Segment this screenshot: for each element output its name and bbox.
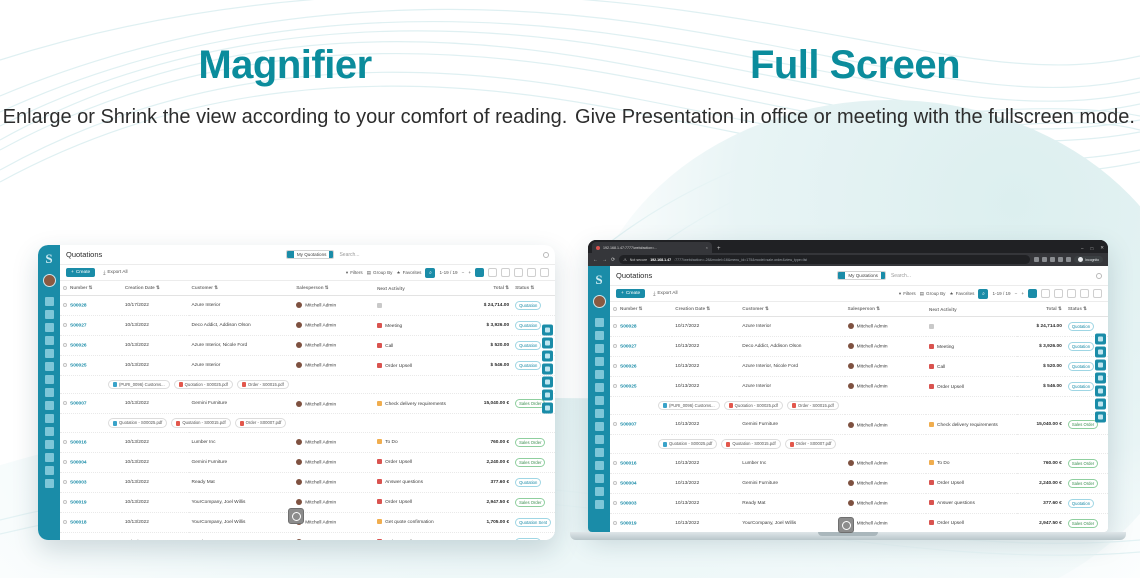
cell-customer: Azure Interior, Nicole Ford	[189, 336, 294, 356]
search-facet-laptop[interactable]: My Quotations	[837, 271, 886, 280]
cell-salesperson: Mitchell Admin	[293, 316, 374, 336]
kanban-view-button-laptop[interactable]	[1041, 289, 1050, 298]
filters-button-laptop[interactable]: ▾Filters	[899, 291, 916, 297]
table-row[interactable]: S0002710/13/2022Deco Addict, Addison Ols…	[610, 337, 1108, 357]
pivot-view-button-laptop[interactable]	[1067, 289, 1076, 298]
plus-icon: +	[71, 270, 74, 275]
group-by-button[interactable]: ▤Group By	[367, 270, 393, 276]
cell-customer: YourCompany, Joel Willis	[189, 512, 294, 532]
export-icon-laptop[interactable]	[1095, 398, 1106, 409]
sidebar-item-mail-laptop[interactable]	[595, 357, 604, 366]
select-all-checkbox[interactable]	[63, 286, 67, 290]
cell-next-activity	[926, 317, 1017, 337]
sidebar-item-home[interactable]	[45, 297, 54, 306]
search-icon[interactable]	[542, 337, 553, 348]
row-checkbox[interactable]	[63, 343, 67, 347]
sidebar-item-eye-laptop[interactable]	[595, 370, 604, 379]
cell-salesperson: Mitchell Admin	[845, 453, 926, 473]
incognito-badge[interactable]: Incognito	[1074, 256, 1103, 263]
graph-view-button[interactable]	[527, 268, 536, 277]
brand-logo-icon-laptop: S	[591, 272, 607, 288]
avatar	[848, 323, 854, 329]
note-icon	[377, 519, 382, 524]
cell-total: 377.60 €	[465, 472, 513, 492]
row-checkbox[interactable]	[613, 521, 617, 525]
attachment-chip[interactable]: Quotation - S00025.pdf	[658, 439, 717, 448]
graph-view-button-laptop[interactable]	[1080, 289, 1089, 298]
cell-salesperson: Mitchell Admin	[845, 513, 926, 532]
cell-salesperson: Mitchell Admin	[293, 512, 374, 532]
sidebar-item-people-laptop[interactable]	[595, 474, 604, 483]
col-number-laptop[interactable]: Number ⇅	[610, 302, 672, 317]
col-creation-date-laptop[interactable]: Creation Date ⇅	[672, 302, 739, 317]
row-checkbox[interactable]	[63, 460, 67, 464]
cell-next-activity: Order Upsell	[374, 452, 464, 472]
sidebar-item-people[interactable]	[45, 453, 54, 462]
cell-next-activity: Order Upsell	[926, 473, 1017, 493]
cell-number[interactable]: S00007	[60, 394, 122, 414]
cell-creation-date: 10/13/2022	[122, 394, 189, 414]
attachment-row: Quotation - S00025.pdfQuotation - S00015…	[610, 435, 1108, 453]
sidebar-item-settings-laptop[interactable]	[595, 500, 604, 509]
attachment-chip[interactable]: Quotation - S00015.pdf	[721, 439, 780, 448]
row-checkbox[interactable]	[613, 461, 617, 465]
quotations-table-wrapper-laptop[interactable]: Number ⇅ Creation Date ⇅ Customer ⇅ Sale…	[610, 302, 1108, 532]
zoom-in-button[interactable]: +	[468, 270, 471, 275]
cell-number[interactable]: S00025	[60, 356, 122, 376]
address-bar[interactable]: ⚠ Not secure 192.168.1.47 :7777/web#acti…	[619, 255, 1030, 264]
settings-icon-laptop[interactable]	[1095, 333, 1106, 344]
cell-creation-date: 10/13/2022	[672, 337, 739, 357]
avatar	[848, 500, 854, 506]
avatar	[848, 343, 854, 349]
col-customer-laptop[interactable]: Customer ⇅	[739, 302, 844, 317]
table-head: Number ⇅ Creation Date ⇅ Customer ⇅ Sale…	[60, 281, 555, 296]
sidebar-item-camera-laptop[interactable]	[595, 448, 604, 457]
row-checkbox[interactable]	[63, 480, 67, 484]
table-row[interactable]: S0001810/13/2022YourCompany, Joel Willis…	[60, 512, 555, 532]
question-icon	[929, 500, 934, 505]
export-all-button[interactable]: ⤓ Export All	[99, 268, 131, 278]
cell-number[interactable]: S00016	[610, 453, 672, 473]
sidebar-item-note[interactable]	[45, 375, 54, 384]
cell-customer: Gemini Furniture	[189, 394, 294, 414]
sidebar-item-filter-laptop[interactable]	[595, 331, 604, 340]
save-icon-laptop[interactable]	[1095, 385, 1106, 396]
attachment-chip[interactable]: Quotation - S00025.pdf	[724, 401, 783, 410]
table-row[interactable]: S0000410/13/2022Gemini FurnitureMitchell…	[60, 452, 555, 472]
table-row[interactable]: S0002510/13/2022Azure InteriorMitchell A…	[60, 356, 555, 376]
export-icon-laptop: ⤓	[653, 291, 655, 297]
avatar	[848, 422, 854, 428]
cell-total: 2,240.00 €	[1017, 473, 1065, 493]
status-badge: Quotation	[1068, 499, 1094, 508]
avatar	[848, 460, 854, 466]
cell-total: 377.60 €	[1017, 493, 1065, 513]
table-row[interactable]: S0000310/13/2022Ready MatMitchell AdminA…	[610, 493, 1108, 513]
list-view-button[interactable]	[475, 268, 484, 277]
create-button-laptop[interactable]: + Create	[616, 289, 645, 298]
export-all-button-laptop[interactable]: ⤓ Export All	[649, 289, 681, 299]
star-icon: ★	[396, 270, 400, 276]
status-badge: Sales Order	[515, 399, 545, 408]
search-input[interactable]: Search...	[339, 252, 359, 258]
table-row[interactable]: S0002510/13/2022Azure InteriorMitchell A…	[610, 377, 1108, 397]
attachment-chip[interactable]: Quotation - S00025.pdf	[108, 418, 167, 427]
incognito-label: Incognito	[1085, 258, 1099, 262]
table-row[interactable]: S0002710/13/2022Deco Addict, Addison Ols…	[60, 316, 555, 336]
table-row[interactable]: S0000210/13/2022Ready MatMitchell AdminO…	[60, 532, 555, 540]
cell-number[interactable]: S00025	[610, 377, 672, 397]
favorites-button-laptop[interactable]: ★Favorites	[949, 291, 974, 297]
cell-customer: Gemini Furniture	[739, 415, 844, 435]
browser-tabstrip: 192.168.1.47:7777/web#action=... × + – □…	[588, 240, 1108, 253]
cell-number[interactable]: S00019	[60, 492, 122, 512]
avatar[interactable]	[43, 274, 56, 287]
file-icon	[113, 382, 117, 387]
attachment-chip[interactable]: Order - S00015.pdf	[787, 401, 839, 410]
sidebar-item-camera[interactable]	[45, 427, 54, 436]
create-button[interactable]: + Create	[66, 268, 95, 277]
avatar	[296, 401, 302, 407]
quotations-table: Number ⇅ Creation Date ⇅ Customer ⇅ Sale…	[60, 281, 555, 540]
attachment-row: (PURI_0096) Customs...Quotation - S00025…	[60, 376, 555, 394]
cell-number[interactable]: S00004	[610, 473, 672, 493]
avatar	[296, 302, 302, 308]
row-checkbox[interactable]	[613, 324, 617, 328]
calendar-view-button[interactable]	[501, 268, 510, 277]
table-row[interactable]: S0001610/13/2022Lumber IncMitchell Admin…	[60, 432, 555, 452]
upsell-icon	[377, 363, 382, 368]
cell-customer: Gemini Furniture	[189, 452, 294, 472]
status-badge: Quotation	[1068, 342, 1094, 351]
sidebar-item-box-laptop[interactable]	[595, 487, 604, 496]
col-customer[interactable]: Customer ⇅	[189, 281, 294, 296]
sidebar-item-user[interactable]	[45, 440, 54, 449]
export-icon[interactable]	[542, 389, 553, 400]
attachment-chip[interactable]: (PURI_0096) Customs...	[108, 380, 170, 389]
select-all-checkbox-laptop[interactable]	[613, 307, 617, 311]
col-salesperson-laptop[interactable]: Salesperson ⇅	[845, 302, 926, 317]
attachment-chip[interactable]: Quotation - S00025.pdf	[174, 380, 233, 389]
file-icon	[663, 442, 667, 447]
status-badge: Quotation	[515, 301, 541, 310]
page-title-fullscreen: Full Screen	[570, 44, 1140, 86]
magnifier-icon-laptop[interactable]: ⌕	[978, 289, 988, 299]
attachment-chip[interactable]: Order - S00007.pdf	[785, 439, 837, 448]
row-checkbox[interactable]	[63, 323, 67, 327]
col-number[interactable]: Number ⇅	[60, 281, 122, 296]
status-badge: Sales Order	[1068, 479, 1098, 488]
search-icon-laptop[interactable]	[1095, 346, 1106, 357]
list-view-button-laptop[interactable]	[1028, 289, 1037, 298]
cell-number[interactable]: S00026	[60, 336, 122, 356]
table-row[interactable]: S0002810/17/2022Azure InteriorMitchell A…	[60, 296, 555, 316]
facet-remove-icon[interactable]	[329, 251, 333, 258]
group-by-button-laptop[interactable]: ▤Group By	[920, 291, 946, 297]
upsell-icon	[377, 459, 382, 464]
cell-total: $ 3,926.00	[1017, 337, 1065, 357]
cell-number[interactable]: S00003	[610, 493, 672, 513]
attachment-chip[interactable]: Quotation - S00015.pdf	[171, 418, 230, 427]
todo-icon	[929, 460, 934, 465]
sidebar-item-grid-laptop[interactable]	[595, 409, 604, 418]
cell-salesperson: Mitchell Admin	[845, 377, 926, 397]
cell-creation-date: 10/13/2022	[122, 532, 189, 540]
bookmark-star-icon[interactable]	[1034, 257, 1039, 262]
minimize-button[interactable]: –	[1081, 246, 1084, 251]
upsell-icon	[377, 539, 382, 540]
upsell-icon	[929, 384, 934, 389]
cell-number[interactable]: S00007	[610, 415, 672, 435]
sidebar-item-inbox-laptop[interactable]	[595, 435, 604, 444]
cell-number[interactable]: S00003	[60, 472, 122, 492]
grid-icon-laptop[interactable]	[1095, 359, 1106, 370]
tablet-device-mockup: S Quotations My Quotati	[38, 245, 555, 540]
col-next-activity[interactable]: Next Activity	[374, 281, 464, 296]
sidebar-item-settings[interactable]	[45, 479, 54, 488]
sidebar-item-calendar[interactable]	[45, 323, 54, 332]
cell-number[interactable]: S00027	[60, 316, 122, 336]
cell-number[interactable]: S00004	[60, 452, 122, 472]
app-sidebar-laptop[interactable]: S	[588, 266, 610, 532]
row-checkbox[interactable]	[613, 344, 617, 348]
magnifier-cursor	[288, 508, 304, 524]
todo-icon	[377, 439, 382, 444]
status-badge: Quotation	[515, 321, 541, 330]
gear-icon[interactable]	[543, 252, 549, 258]
reload-button[interactable]: ⟳	[611, 257, 615, 263]
cell-number[interactable]: S00002	[60, 532, 122, 540]
print-icon-laptop[interactable]	[1095, 372, 1106, 383]
table-row[interactable]: S0001910/13/2022YourCompany, Joel Willis…	[60, 492, 555, 512]
sidebar-item-box[interactable]	[45, 466, 54, 475]
cell-creation-date: 10/13/2022	[122, 432, 189, 452]
favorites-button[interactable]: ★Favorites	[396, 270, 421, 276]
settings-icon[interactable]	[542, 324, 553, 335]
attachment-chip[interactable]: Order - S00015.pdf	[237, 380, 289, 389]
cell-creation-date: 10/13/2022	[122, 336, 189, 356]
search-input-laptop[interactable]: Search...	[891, 273, 911, 279]
avatar	[296, 539, 302, 540]
table-row[interactable]: S0002610/13/2022Azure Interior, Nicole F…	[60, 336, 555, 356]
cell-status: Sales Order	[512, 492, 555, 512]
new-tab-button[interactable]: +	[717, 246, 721, 252]
col-creation-date[interactable]: Creation Date ⇅	[122, 281, 189, 296]
sidebar-item-note-laptop[interactable]	[595, 396, 604, 405]
attachment-chip[interactable]: Order - S00007.pdf	[235, 418, 287, 427]
maximize-button[interactable]: □	[1091, 246, 1094, 251]
col-status-laptop[interactable]: Status ⇅	[1065, 302, 1108, 317]
brand-logo-icon: S	[41, 251, 57, 267]
row-checkbox[interactable]	[613, 481, 617, 485]
breadcrumb: Quotations	[66, 250, 102, 259]
cell-total: $ 520.00	[465, 336, 513, 356]
status-badge: Quotation	[515, 361, 541, 370]
groupby-icon-laptop: ▤	[920, 291, 924, 297]
row-checkbox[interactable]	[63, 500, 67, 504]
extension-icon-3[interactable]	[1058, 257, 1063, 262]
facet-remove-icon-laptop[interactable]	[881, 272, 885, 279]
cell-total: $ 24,714.00	[465, 296, 513, 316]
activity-view-button-laptop[interactable]	[1093, 289, 1102, 298]
sidebar-item-mail[interactable]	[45, 336, 54, 345]
browser-tab[interactable]: 192.168.1.47:7777/web#action=... ×	[592, 242, 712, 253]
sidebar-item-chart-laptop[interactable]	[595, 383, 604, 392]
security-label: Not secure	[630, 258, 647, 262]
row-checkbox[interactable]	[613, 384, 617, 388]
back-button[interactable]: ←	[593, 257, 598, 263]
row-checkbox[interactable]	[613, 364, 617, 368]
close-icon[interactable]: ×	[706, 245, 708, 250]
screen-icon[interactable]	[542, 402, 553, 413]
cell-total: 2,947.50 €	[1017, 513, 1065, 532]
col-total[interactable]: Total ⇅	[465, 281, 513, 296]
cell-total: 760.00 €	[1017, 453, 1065, 473]
save-icon[interactable]	[542, 376, 553, 387]
avatar	[848, 383, 854, 389]
table-row[interactable]: S0001910/13/2022YourCompany, Joel Willis…	[610, 513, 1108, 532]
gear-icon-laptop[interactable]	[1096, 273, 1102, 279]
facet-filter-icon-laptop	[838, 272, 845, 279]
row-checkbox[interactable]	[63, 520, 67, 524]
cell-salesperson: Mitchell Admin	[845, 415, 926, 435]
kanban-view-button[interactable]	[488, 268, 497, 277]
cell-total: 2,947.50 €	[465, 492, 513, 512]
sidebar-item-user-laptop[interactable]	[595, 461, 604, 470]
quotations-table-wrapper[interactable]: Number ⇅ Creation Date ⇅ Customer ⇅ Sale…	[60, 281, 555, 540]
table-row[interactable]: S0000710/13/2022Gemini FurnitureMitchell…	[60, 394, 555, 414]
grid-icon[interactable]	[542, 350, 553, 361]
cell-number[interactable]: S00028	[610, 317, 672, 337]
cell-status: Quotation	[512, 472, 555, 492]
sidebar-item-chart[interactable]	[45, 362, 54, 371]
breadcrumb-laptop: Quotations	[616, 271, 652, 280]
cell-status: Sales Order	[512, 432, 555, 452]
window-controls: – □ ✕	[1081, 245, 1104, 253]
sidebar-item-inbox[interactable]	[45, 414, 54, 423]
sidebar-item-close-laptop[interactable]	[595, 422, 604, 431]
cell-customer: Azure Interior, Nicole Ford	[739, 357, 844, 377]
row-checkbox[interactable]	[63, 401, 67, 405]
floating-action-column-laptop[interactable]	[1095, 333, 1106, 422]
app-subbar-laptop: + Create ⤓ Export All ▾Filters ▤Group By…	[610, 286, 1108, 302]
col-next-activity-laptop[interactable]: Next Activity	[926, 302, 1017, 317]
sidebar-item-close[interactable]	[45, 401, 54, 410]
screen-icon-laptop[interactable]	[1095, 411, 1106, 422]
pivot-view-button[interactable]	[514, 268, 523, 277]
table-row[interactable]: S0000310/13/2022Ready MatMitchell AdminA…	[60, 472, 555, 492]
col-salesperson[interactable]: Salesperson ⇅	[293, 281, 374, 296]
extension-icon-1[interactable]	[1042, 257, 1047, 262]
row-checkbox[interactable]	[63, 440, 67, 444]
filters-button[interactable]: ▾Filters	[346, 270, 363, 276]
cell-number[interactable]: S00018	[60, 512, 122, 532]
laptop-screen: 192.168.1.47:7777/web#action=... × + – □…	[588, 240, 1108, 532]
calendar-view-button-laptop[interactable]	[1054, 289, 1063, 298]
url-host: 192.168.1.47	[650, 258, 671, 262]
pager-label-laptop: 1-19 / 19	[992, 291, 1010, 296]
table-row[interactable]: S0000710/13/2022Gemini FurnitureMitchell…	[610, 415, 1108, 435]
row-checkbox[interactable]	[63, 303, 67, 307]
upsell-icon	[929, 480, 934, 485]
sidebar-item-grid[interactable]	[45, 388, 54, 397]
app-sidebar-tablet[interactable]: S	[38, 245, 60, 540]
print-icon[interactable]	[542, 363, 553, 374]
col-total-laptop[interactable]: Total ⇅	[1017, 302, 1065, 317]
cell-number[interactable]: S00019	[610, 513, 672, 532]
row-checkbox[interactable]	[63, 363, 67, 367]
activity-view-button[interactable]	[540, 268, 549, 277]
headings-row: Magnifier Enlarge or Shrink the view acc…	[0, 0, 1140, 131]
table-row[interactable]: S0000410/13/2022Gemini FurnitureMitchell…	[610, 473, 1108, 493]
filters-label: Filters	[350, 270, 363, 275]
avatar-laptop[interactable]	[593, 295, 606, 308]
zoom-in-button-laptop[interactable]: +	[1021, 291, 1024, 296]
cell-number[interactable]: S00026	[610, 357, 672, 377]
table-row[interactable]: S0001610/13/2022Lumber IncMitchell Admin…	[610, 453, 1108, 473]
row-checkbox[interactable]	[613, 422, 617, 426]
cell-customer: Azure Interior	[189, 356, 294, 376]
attachment-chips: (PURI_0096) Customs...Quotation - S00025…	[60, 376, 555, 394]
col-status[interactable]: Status ⇅	[512, 281, 555, 296]
cell-customer: Ready Mat	[189, 532, 294, 540]
sidebar-item-filter[interactable]	[45, 310, 54, 319]
cell-total: $ 546.00	[1017, 377, 1065, 397]
zoom-out-button-laptop[interactable]: −	[1015, 291, 1018, 296]
table-header-row: Number ⇅ Creation Date ⇅ Customer ⇅ Sale…	[60, 281, 555, 296]
status-badge: Quotation	[1068, 322, 1094, 331]
extension-icon-2[interactable]	[1050, 257, 1055, 262]
facet-label-laptop: My Quotations	[845, 273, 881, 278]
plus-icon-laptop: +	[621, 291, 624, 296]
favicon-icon	[596, 246, 600, 250]
filter-icon: ▾	[346, 270, 348, 276]
magnifier-icon[interactable]: ⌕	[425, 268, 435, 278]
cell-salesperson: Mitchell Admin	[293, 356, 374, 376]
cell-creation-date: 10/17/2022	[672, 317, 739, 337]
sidebar-item-calendar-laptop[interactable]	[595, 344, 604, 353]
table-row[interactable]: S0002810/17/2022Azure InteriorMitchell A…	[610, 317, 1108, 337]
attachment-chip[interactable]: (PURI_0096) Customs...	[658, 401, 720, 410]
call-icon	[929, 364, 934, 369]
cell-customer: Ready Mat	[189, 472, 294, 492]
table-row[interactable]: S0002610/13/2022Azure Interior, Nicole F…	[610, 357, 1108, 377]
row-checkbox[interactable]	[613, 501, 617, 505]
page-subtitle-fullscreen: Give Presentation in office or meeting w…	[570, 104, 1140, 131]
favorites-label: Favorites	[403, 270, 422, 275]
search-facet[interactable]: My Quotations	[286, 250, 335, 259]
attachment-chips: Quotation - S00025.pdfQuotation - S00015…	[60, 414, 555, 432]
zoom-out-button[interactable]: −	[462, 270, 465, 275]
sidebar-item-eye[interactable]	[45, 349, 54, 358]
forward-button[interactable]: →	[602, 257, 607, 263]
cell-next-activity: To Do	[926, 453, 1017, 473]
cell-number[interactable]: S00028	[60, 296, 122, 316]
groupby-icon: ▤	[367, 270, 371, 276]
sidebar-item-home-laptop[interactable]	[595, 318, 604, 327]
extension-icon-4[interactable]	[1066, 257, 1071, 262]
floating-action-column-tablet[interactable]	[542, 324, 553, 413]
file-icon	[663, 403, 667, 408]
cell-number[interactable]: S00016	[60, 432, 122, 452]
cell-customer: Lumber Inc	[189, 432, 294, 452]
cell-status: Quotation Sent	[512, 512, 555, 532]
browser-extension-icons: Incognito	[1034, 256, 1103, 263]
attachment-chips: (PURI_0096) Customs...Quotation - S00025…	[610, 397, 1108, 415]
cell-number[interactable]: S00027	[610, 337, 672, 357]
window-close-button[interactable]: ✕	[1100, 245, 1104, 251]
